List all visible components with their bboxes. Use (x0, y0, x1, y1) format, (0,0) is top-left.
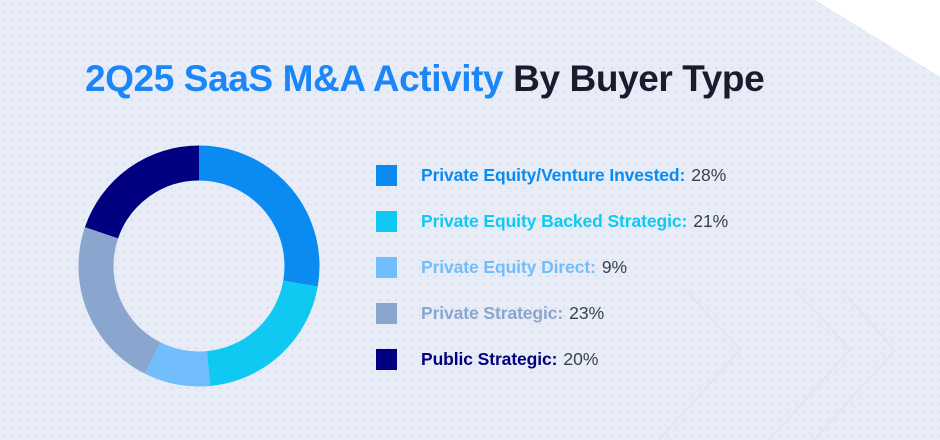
legend-swatch-icon (376, 165, 397, 186)
legend-item[interactable]: Private Equity Backed Strategic:21% (376, 198, 876, 244)
legend-item-value: 28% (691, 165, 726, 186)
legend-item-label: Public Strategic: (421, 349, 557, 370)
legend-item-label: Private Strategic: (421, 303, 563, 324)
chart-legend: Private Equity/Venture Invested:28%Priva… (376, 152, 876, 382)
legend-item[interactable]: Private Strategic:23% (376, 290, 876, 336)
corner-notch-decoration (812, 0, 940, 78)
donut-chart (78, 145, 320, 387)
legend-item[interactable]: Private Equity/Venture Invested:28% (376, 152, 876, 198)
legend-item-value: 21% (693, 211, 728, 232)
legend-item-label: Private Equity/Venture Invested: (421, 165, 685, 186)
legend-item[interactable]: Private Equity Direct:9% (376, 244, 876, 290)
legend-item-value: 9% (602, 257, 627, 278)
legend-swatch-icon (376, 303, 397, 324)
legend-swatch-icon (376, 211, 397, 232)
legend-item-label: Private Equity Backed Strategic: (421, 211, 687, 232)
legend-item[interactable]: Public Strategic:20% (376, 336, 876, 382)
legend-item-value: 23% (569, 303, 604, 324)
infographic-canvas: 2Q25 SaaS M&A Activity By Buyer Type Pri… (0, 0, 940, 440)
page-title: 2Q25 SaaS M&A Activity By Buyer Type (85, 58, 764, 100)
legend-swatch-icon (376, 257, 397, 278)
legend-swatch-icon (376, 349, 397, 370)
legend-item-label: Private Equity Direct: (421, 257, 596, 278)
donut-chart-svg (78, 145, 320, 387)
title-dark-text: By Buyer Type (513, 58, 764, 99)
legend-item-value: 20% (563, 349, 598, 370)
title-accent-text: 2Q25 SaaS M&A Activity (85, 58, 503, 99)
